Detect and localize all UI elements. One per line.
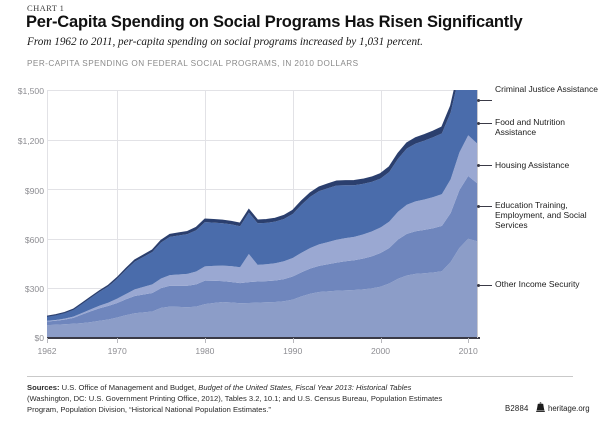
sources-label: Sources: (27, 383, 60, 392)
legend-leader-housing (479, 165, 492, 166)
x-tick-1962 (47, 338, 48, 343)
legend-leader-criminal-justice (479, 100, 492, 101)
x-axis-label-1990: 1990 (273, 346, 313, 356)
legend-leader-education-training (479, 206, 492, 207)
x-tick-2000 (381, 338, 382, 343)
heritage-website-link[interactable]: heritage.org (548, 404, 590, 413)
y-axis-label-1500: $1,500 (0, 86, 44, 96)
x-axis-label-1980: 1980 (185, 346, 225, 356)
y-axis-label-900: $900 (0, 186, 44, 196)
y-axis-right-line (477, 90, 478, 338)
x-tick-2010 (468, 338, 469, 343)
x-axis-label-2000: 2000 (361, 346, 401, 356)
legend-item-food-and-nutrition-assistance: Food and Nutrition Assistance (495, 117, 600, 137)
page-title: Per-Capita Spending on Social Programs H… (26, 13, 522, 32)
x-tick-1990 (293, 338, 294, 343)
legend-leader-food-nutrition (479, 123, 492, 124)
chart-plot-area (47, 90, 477, 338)
chart-axis-caption: PER-CAPITA SPENDING ON FEDERAL SOCIAL PR… (27, 59, 359, 68)
page-subtitle: From 1962 to 2011, per-capita spending o… (27, 36, 423, 48)
stacked-area-series (47, 90, 477, 338)
heritage-liberty-bell-logo-icon (536, 402, 545, 413)
legend-leader-other-income-security (479, 285, 492, 286)
sources-publication-title: Budget of the United States, Fiscal Year… (198, 383, 411, 392)
publication-id: B2884 (505, 404, 529, 413)
x-axis-label-1962: 1962 (27, 346, 67, 356)
y-axis-label-300: $300 (0, 284, 44, 294)
legend-item-criminal-justice-assistance: Criminal Justice Assistance (495, 84, 600, 94)
x-axis-label-1970: 1970 (97, 346, 137, 356)
x-axis-line (47, 337, 480, 339)
legend-item-other-income-security: Other Income Security (495, 279, 600, 289)
y-axis-label-600: $600 (0, 235, 44, 245)
chart-number-label: CHART 1 (27, 3, 64, 13)
x-axis-label-2010: 2010 (448, 346, 488, 356)
footer-divider (27, 376, 573, 377)
sources-text-part-2: (Washington, DC: U.S. Government Printin… (27, 394, 442, 414)
legend-item-education-training-employment-and-social-services: Education Training, Employment, and Soci… (495, 200, 600, 231)
y-axis-label-1200: $1,200 (0, 136, 44, 146)
legend-item-housing-assistance: Housing Assistance (495, 160, 600, 170)
x-tick-1980 (205, 338, 206, 343)
x-tick-1970 (117, 338, 118, 343)
sources-text-part-1: U.S. Office of Management and Budget, (60, 383, 199, 392)
y-axis-label-0: $0 (0, 333, 44, 343)
chart-page: CHART 1 Per-Capita Spending on Social Pr… (0, 0, 600, 423)
sources-note: Sources: U.S. Office of Management and B… (27, 382, 447, 416)
